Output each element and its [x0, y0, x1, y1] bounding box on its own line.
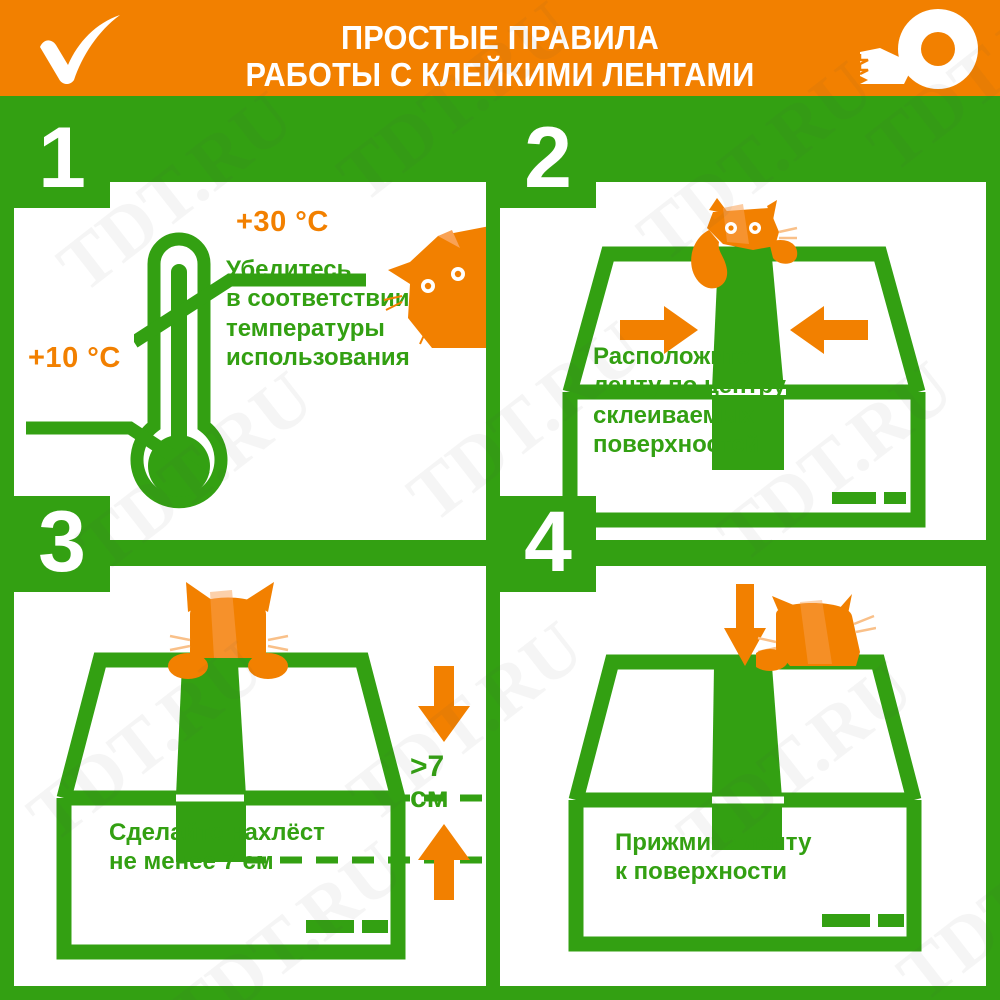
- temp-low-label: +10 °C: [28, 342, 121, 375]
- cat-in-box-icon: [164, 578, 294, 708]
- overlap-label: >7 см: [410, 752, 449, 813]
- step-number-badge-4: 4: [500, 496, 596, 592]
- step-2-caption: Расположите ленту по центру склеиваемых …: [593, 342, 786, 459]
- tape-roll-icon: [858, 8, 986, 90]
- step-4-caption: Прижмите ленту к поверхности: [615, 828, 811, 887]
- page-title: ПРОСТЫЕ ПРАВИЛА РАБОТЫ С КЛЕЙКИМИ ЛЕНТАМ…: [175, 20, 826, 94]
- tape-strip-icon: [566, 648, 924, 958]
- step-panel-1: +30 °C +10 °C Убедитесь в соответствии т…: [14, 182, 486, 540]
- check-icon: [34, 14, 130, 84]
- overlap-gauge: >7 см: [404, 666, 486, 886]
- header-bar: ПРОСТЫЕ ПРАВИЛА РАБОТЫ С КЛЕЙКИМИ ЛЕНТАМ…: [0, 0, 1000, 96]
- step-number-badge-2: 2: [500, 112, 596, 208]
- cat-on-box-icon: [683, 198, 803, 294]
- step-3-caption: Сделайте нахлёст не менее 7 см: [109, 818, 325, 877]
- steps-grid: +30 °C +10 °C Убедитесь в соответствии т…: [0, 96, 1000, 1000]
- cat-lying-icon: [756, 594, 876, 684]
- arrow-down-icon: [416, 666, 472, 744]
- arrow-left-icon: [788, 304, 868, 356]
- step-panel-3: Сделайте нахлёст не менее 7 см >7 см: [14, 566, 486, 986]
- step-panel-2: Расположите ленту по центру склеиваемых …: [500, 182, 986, 540]
- step-number-badge-3: 3: [14, 496, 110, 592]
- step-panel-4: Прижмите ленту к поверхности: [500, 566, 986, 986]
- temp-high-label: +30 °C: [236, 206, 329, 239]
- infographic-poster: ПРОСТЫЕ ПРАВИЛА РАБОТЫ С КЛЕЙКИМИ ЛЕНТАМ…: [0, 0, 1000, 1000]
- cat-peeking-icon: [380, 222, 486, 352]
- step-number-badge-1: 1: [14, 112, 110, 208]
- arrow-up-icon: [416, 822, 472, 900]
